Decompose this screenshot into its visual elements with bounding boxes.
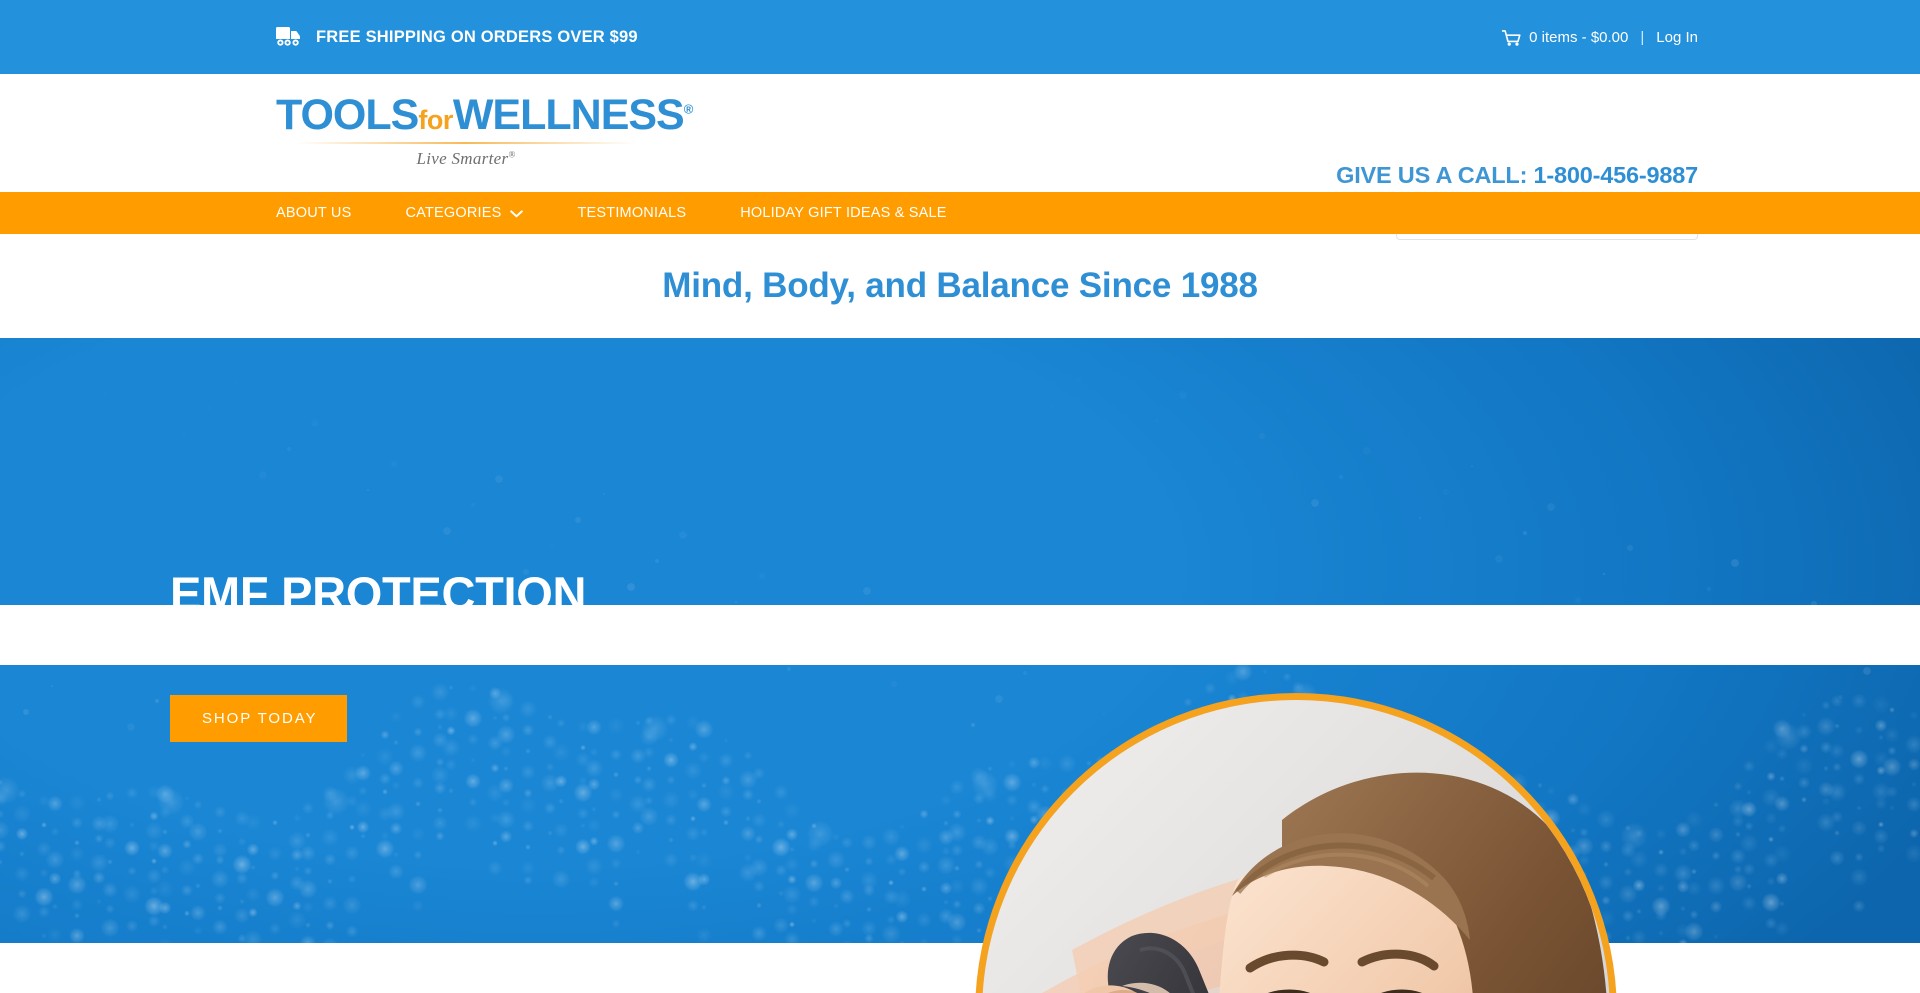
- nav-item-about-us[interactable]: ABOUT US: [276, 205, 351, 221]
- topbar-account-area: 0 items - $0.00 | Log In: [1502, 29, 1698, 46]
- phone-label: GIVE US A CALL:: [1336, 162, 1533, 188]
- tagline-section: Mind, Body, and Balance Since 1988: [0, 234, 1920, 338]
- logo-word-wellness: WELLNESS: [453, 91, 684, 139]
- page-root: FREE SHIPPING ON ORDERS OVER $99 0 items…: [0, 0, 1920, 993]
- nav-label-testimonials: TESTIMONIALS: [577, 205, 686, 221]
- cart-summary-text: 0 items - $0.00: [1529, 29, 1628, 46]
- logo-word-for: for: [418, 105, 453, 135]
- login-link[interactable]: Log In: [1656, 29, 1698, 46]
- logo-tagline: Live Smarter®: [276, 149, 656, 169]
- hero-circular-photo: [975, 693, 1617, 993]
- main-navigation: ABOUT US CATEGORIES TESTIMONIALS HOLIDAY…: [0, 192, 1920, 234]
- shopping-cart-icon: [1502, 30, 1521, 46]
- announcement-bar: FREE SHIPPING ON ORDERS OVER $99 0 items…: [0, 0, 1920, 74]
- hero-title: EMF PROTECTION: [170, 570, 851, 617]
- shop-today-button[interactable]: SHOP TODAY: [170, 695, 347, 742]
- logo-registered-mark: ®: [684, 102, 693, 117]
- nav-label-holiday-gift-ideas: HOLIDAY GIFT IDEAS & SALE: [740, 205, 946, 221]
- phone-callout: GIVE US A CALL: 1-800-456-9887: [1336, 162, 1698, 189]
- nav-item-holiday-gift-ideas[interactable]: HOLIDAY GIFT IDEAS & SALE: [740, 205, 946, 221]
- free-shipping-promo: FREE SHIPPING ON ORDERS OVER $99: [276, 27, 638, 47]
- logo-word-tools: TOOLS: [276, 91, 418, 139]
- logo-wordmark: TOOLSforWELLNESS®: [276, 94, 656, 137]
- nav-item-testimonials[interactable]: TESTIMONIALS: [577, 205, 686, 221]
- nav-label-about-us: ABOUT US: [276, 205, 351, 221]
- woman-on-phone-illustration: [982, 700, 1610, 993]
- page-tagline: Mind, Body, and Balance Since 1988: [662, 266, 1258, 306]
- hero-subtitle: Help Activate your Body's Natural Defens…: [170, 643, 851, 665]
- site-logo[interactable]: TOOLSforWELLNESS® Live Smarter®: [276, 94, 656, 169]
- site-header: TOOLSforWELLNESS® Live Smarter® GIVE US …: [0, 74, 1920, 192]
- logo-tagline-text: Live Smarter: [416, 149, 508, 168]
- logo-divider-rule: [296, 142, 636, 144]
- cart-link[interactable]: 0 items - $0.00: [1502, 29, 1628, 46]
- free-shipping-text: FREE SHIPPING ON ORDERS OVER $99: [316, 28, 638, 47]
- truck-icon: [276, 27, 302, 47]
- chevron-down-icon: [510, 210, 523, 218]
- nav-item-categories[interactable]: CATEGORIES: [405, 205, 523, 221]
- hero-copy-block: EMF PROTECTION Help Activate your Body's…: [170, 570, 851, 742]
- logo-tagline-mark: ®: [508, 149, 515, 159]
- topbar-separator: |: [1640, 29, 1644, 46]
- hero-photo-inner: [982, 700, 1610, 993]
- nav-label-categories: CATEGORIES: [405, 205, 501, 221]
- phone-number-link[interactable]: 1-800-456-9887: [1534, 162, 1698, 188]
